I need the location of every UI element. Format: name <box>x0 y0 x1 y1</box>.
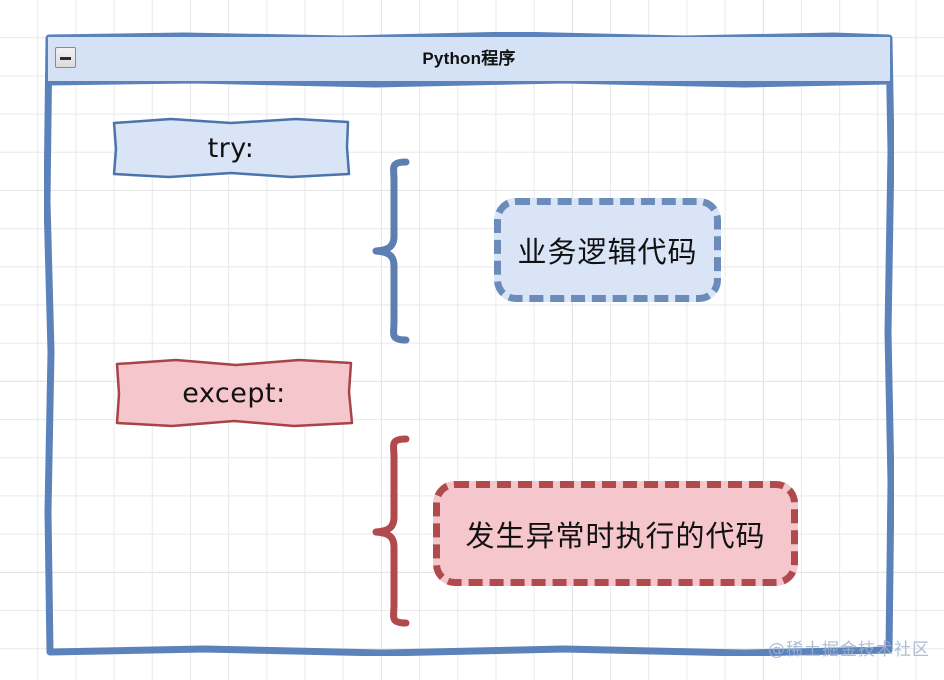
except-block-label: except: <box>114 358 354 428</box>
exception-handler-callout[interactable]: 发生异常时执行的代码 <box>433 481 798 586</box>
try-block[interactable]: try: <box>111 117 351 179</box>
try-brace-path <box>372 158 412 344</box>
diagram-canvas: Python程序 try: except: 业务逻辑代码 发生异常时执行的代码 … <box>0 0 944 680</box>
page-title: Python程序 <box>44 37 894 81</box>
except-brace <box>372 435 412 627</box>
try-block-label: try: <box>111 117 351 179</box>
except-block[interactable]: except: <box>114 358 354 428</box>
business-logic-label: 业务逻辑代码 <box>517 229 697 271</box>
try-brace <box>372 158 412 344</box>
watermark: @稀土掘金技术社区 <box>768 635 930 660</box>
exception-handler-label: 发生异常时执行的代码 <box>465 513 765 555</box>
business-logic-callout[interactable]: 业务逻辑代码 <box>494 198 721 302</box>
except-brace-path <box>372 435 412 627</box>
